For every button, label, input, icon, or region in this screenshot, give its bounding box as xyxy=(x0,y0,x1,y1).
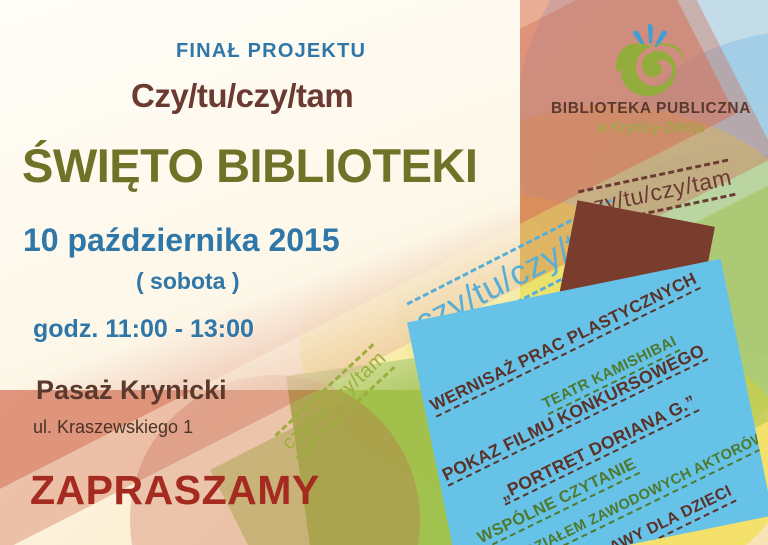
project-title: Czy/tu/czy/tam xyxy=(131,77,353,115)
kicker-text: FINAŁ PROJEKTU xyxy=(176,40,366,63)
library-spiral-leaf-icon xyxy=(546,20,756,98)
page-title: ŚWIĘTO BIBLIOTEKI xyxy=(22,138,477,193)
call-to-action: ZAPRASZAMY xyxy=(30,467,320,514)
logo-library-location: w Krynicy-Zdroju xyxy=(546,120,756,136)
event-weekday: ( sobota ) xyxy=(136,268,240,295)
poster-canvas: czy/tu/czy/tam czy/tu/czy/tam czy/tu/czy… xyxy=(0,0,768,545)
library-logo: BIBLIOTEKA PUBLICZNA w Krynicy-Zdroju xyxy=(546,20,756,136)
event-date: 10 października 2015 xyxy=(23,222,340,259)
event-hours: godz. 11:00 - 13:00 xyxy=(33,315,254,344)
event-street: ul. Kraszewskiego 1 xyxy=(33,417,193,438)
event-venue: Pasaż Krynicki xyxy=(36,375,227,406)
logo-library-name: BIBLIOTEKA PUBLICZNA xyxy=(546,100,756,118)
